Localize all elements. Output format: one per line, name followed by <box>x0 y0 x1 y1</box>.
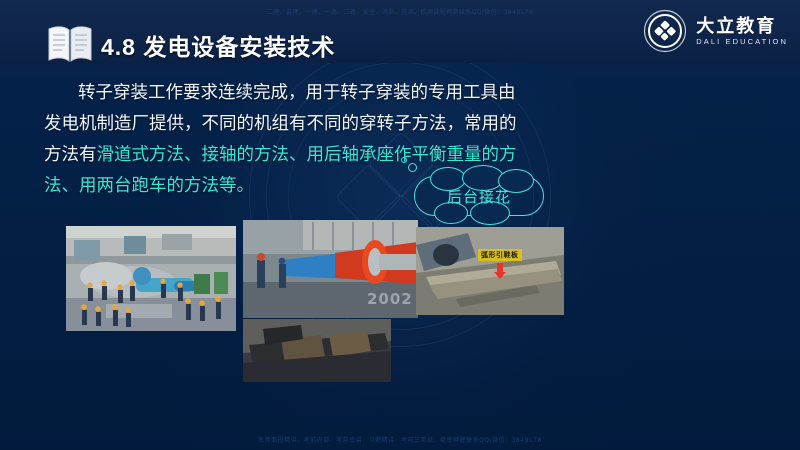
photo-annotation-label: 弧形引鞋板 <box>478 249 522 261</box>
footer-text: 名师面授精讲、考前内部、考前串讲、习题精讲、考前三页纸、绝密押题联系QQ/微信：… <box>0 435 800 444</box>
body-line-3: 方法有滑道式方法、接轴的方法、用后轴承座作平衡重量的方 <box>44 140 600 171</box>
slide-canvas: 二建、监理、一建、一造、二造、安全、消防、咨询、检测课程押题联系QQ/微信：38… <box>0 0 800 450</box>
photo-mid: 2002 <box>243 220 418 318</box>
body-line-1: 转子穿装工作要求连续完成，用于转子穿装的专用工具由 <box>44 78 600 109</box>
dali-emblem-icon <box>643 9 687 53</box>
photo-left <box>66 226 236 331</box>
brand-logo: 大立教育 DALI EDUCATION <box>643 8 788 54</box>
page-title: 4.8 发电设备安装技术 <box>101 28 335 62</box>
thought-bubble: 后台接花 <box>414 176 544 216</box>
body-line-2: 发电机制造厂提供，不同的机组有不同的穿转子方法，常用的 <box>44 109 600 140</box>
open-book-icon <box>47 24 93 64</box>
body-line-3-cyan: 滑道式方法、接轴的方法、用后轴承座作平衡重量的方 <box>97 145 517 165</box>
svg-text:2002: 2002 <box>367 290 413 308</box>
bubble-dot-large-icon <box>408 163 417 172</box>
logo-name-cn: 大立教育 <box>696 17 788 35</box>
photo-bottom <box>243 319 391 382</box>
bubble-dot-small-icon <box>401 157 407 163</box>
thought-bubble-label: 后台接花 <box>414 176 544 216</box>
logo-name-en: DALI EDUCATION <box>696 38 788 46</box>
body-line-3-white: 方法有 <box>44 145 97 165</box>
photo-right: 弧形引鞋板 <box>416 227 564 315</box>
